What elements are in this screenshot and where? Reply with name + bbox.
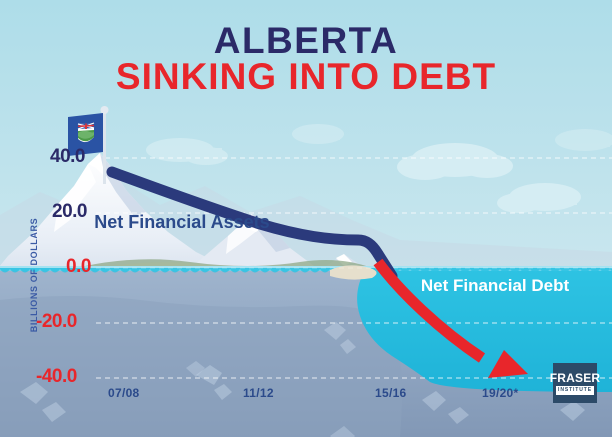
alberta-shield [78, 123, 94, 142]
x-axis-label-0708: 07/08 [108, 386, 140, 400]
flagpole-finial [101, 106, 109, 114]
infographic-root: ALBERTA SINKING INTO DEBT 40.0 20.0 0.0 … [0, 0, 612, 437]
y-axis-label-neg20: -20.0 [36, 311, 77, 333]
x-axis-label-1516: 15/16 [375, 386, 407, 400]
y-axis-label-neg40: -40.0 [36, 366, 77, 388]
x-axis-label-1112: 11/12 [243, 386, 274, 400]
series-label-net-financial-debt: Net Financial Debt [415, 276, 575, 296]
flagpole [103, 112, 106, 184]
y-axis-label-40: 40.0 [50, 146, 85, 168]
fraser-institute-logo: FRASER INSTITUTE [553, 363, 597, 403]
y-axis-label-20: 20.0 [52, 201, 87, 223]
page-title-line2: SINKING INTO DEBT [0, 56, 612, 98]
x-axis-label-1920: 19/20* [482, 386, 519, 400]
series-label-net-financial-assets: Net Financial Assets [92, 212, 272, 232]
y-axis-title: BILLIONS OF DOLLARS [29, 215, 39, 335]
logo-name: FRASER [550, 372, 601, 384]
logo-subtitle: INSTITUTE [556, 386, 594, 395]
y-axis-label-0: 0.0 [66, 256, 91, 278]
